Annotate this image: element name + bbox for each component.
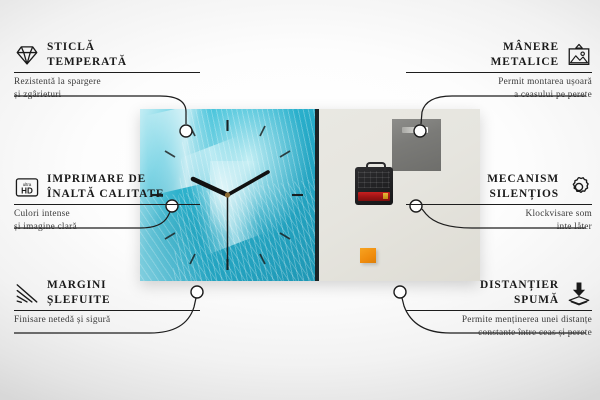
picture-frame-icon (566, 42, 592, 68)
feature-subtitle-line2: constante între ceas și perete (406, 327, 592, 339)
feature-subtitle-line1: Permit montarea ușoară (406, 76, 592, 88)
feature-subtitle-line1: Finisare netedă și sigură (14, 314, 200, 326)
divider (14, 72, 200, 73)
feature-metal-handles: MÂNERE METALICE Permit montarea ușoară a… (406, 40, 592, 101)
feature-foam-spacer: DISTANȚIER SPUMĂ Permite menținerea unei… (406, 278, 592, 339)
ultra-hd-icon: ultra HD (14, 174, 40, 200)
feature-polished-edges: MARGINI ȘLEFUITE Finisare netedă și sigu… (14, 278, 200, 327)
feature-title-line2: METALICE (491, 55, 559, 70)
feature-title-line1: MÂNERE (491, 40, 559, 55)
beveled-edges-icon (14, 280, 40, 306)
svg-text:HD: HD (21, 186, 33, 195)
divider (406, 204, 592, 205)
feature-title-line2: ÎNALTĂ CALITATE (47, 187, 164, 202)
feature-title-line1: STICLĂ (47, 40, 127, 55)
feature-subtitle-line2: a ceasului pe perete (406, 89, 592, 101)
feature-title-line1: MECANISM (487, 172, 559, 187)
gear-icon (566, 174, 592, 200)
feature-subtitle-line2: și imagine clară (14, 221, 200, 233)
feature-tempered-glass: STICLĂ TEMPERATĂ Rezistentă la spargere … (14, 40, 200, 101)
divider (14, 310, 200, 311)
feature-title-line2: SILENȚIOS (487, 187, 559, 202)
feature-subtitle-line2: și zgârieturi (14, 89, 200, 101)
divider (14, 204, 200, 205)
down-arrow-stack-icon (566, 280, 592, 306)
feature-title-line1: MARGINI (47, 278, 111, 293)
feature-title-line2: SPUMĂ (480, 293, 559, 308)
feature-title-line2: ȘLEFUITE (47, 293, 111, 308)
feature-subtitle-line1: Permite menținerea unei distanțe (406, 314, 592, 326)
divider (406, 310, 592, 311)
feature-silent-mechanism: MECANISM SILENȚIOS Klockvisare som inte … (406, 172, 592, 233)
feature-hd-print: ultra HD IMPRIMARE DE ÎNALTĂ CALITATE Cu… (14, 172, 200, 233)
feature-subtitle-line1: Rezistentă la spargere (14, 76, 200, 88)
feature-title-line1: DISTANȚIER (480, 278, 559, 293)
divider (406, 72, 592, 73)
feature-title-line1: IMPRIMARE DE (47, 172, 164, 187)
diamond-icon (14, 42, 40, 68)
feature-subtitle-line1: Culori intense (14, 208, 200, 220)
feature-subtitle-line1: Klockvisare som (406, 208, 592, 220)
feature-subtitle-line2: inte låter (406, 221, 592, 233)
feature-title-line2: TEMPERATĂ (47, 55, 127, 70)
